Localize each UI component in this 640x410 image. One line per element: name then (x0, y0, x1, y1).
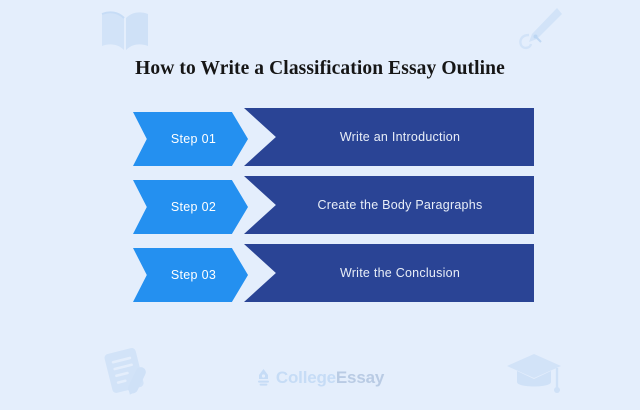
step-row: Step 03 Write the Conclusion (0, 244, 640, 312)
page-title: How to Write a Classification Essay Outl… (0, 58, 640, 80)
step-bar-1[interactable]: Write an Introduction (244, 108, 534, 166)
steps-list: Step 01 Write an Introduction Step 02 Cr… (0, 108, 640, 312)
step-row: Step 01 Write an Introduction (0, 108, 640, 176)
open-book-icon (98, 8, 152, 56)
logo-college-text: College (276, 368, 336, 387)
step-bar-label: Write the Conclusion (318, 266, 460, 280)
step-bar-2[interactable]: Create the Body Paragraphs (244, 176, 534, 234)
step-bar-label: Create the Body Paragraphs (296, 198, 483, 212)
step-chevron-2[interactable]: Step 02 (133, 180, 248, 234)
step-bar-label: Write an Introduction (318, 130, 460, 144)
step-chevron-label: Step 01 (165, 132, 216, 146)
step-chevron-1[interactable]: Step 01 (133, 112, 248, 166)
step-bar-3[interactable]: Write the Conclusion (244, 244, 534, 302)
step-chevron-label: Step 03 (165, 268, 216, 282)
pen-nib-icon (256, 369, 271, 387)
logo-text: CollegeEssay (276, 368, 384, 388)
step-chevron-label: Step 02 (165, 200, 216, 214)
step-row: Step 02 Create the Body Paragraphs (0, 176, 640, 244)
step-chevron-3[interactable]: Step 03 (133, 248, 248, 302)
fountain-pen-nib-icon (515, 6, 563, 54)
footer-logo: CollegeEssay (0, 368, 640, 388)
infographic-canvas: How to Write a Classification Essay Outl… (0, 0, 640, 410)
logo-essay-text: Essay (336, 368, 384, 387)
